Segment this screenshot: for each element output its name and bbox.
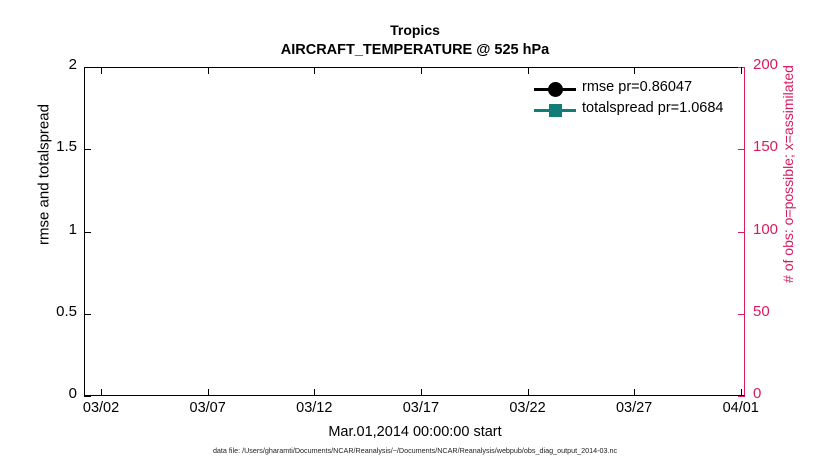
chart-page: Tropics AIRCRAFT_TEMPERATURE @ 525 hPa 0…: [0, 0, 830, 470]
legend-item-totalspread[interactable]: totalspread pr=1.0684: [534, 99, 744, 120]
legend-label-totalspread: totalspread pr=1.0684: [582, 100, 723, 116]
x-tick-label: 03/07: [173, 400, 243, 416]
x-tick-top: [314, 67, 315, 74]
chart-title-block: Tropics AIRCRAFT_TEMPERATURE @ 525 hPa: [0, 22, 830, 58]
data-file-note: data file: /Users/gharamti/Documents/NCA…: [0, 446, 830, 455]
x-tick: [314, 389, 315, 396]
x-tick: [741, 389, 742, 396]
legend-marker-square-icon: [549, 104, 562, 117]
legend-label-rmse: rmse pr=0.86047: [582, 79, 692, 95]
y-tick-left: [84, 232, 91, 233]
legend-item-rmse[interactable]: rmse pr=0.86047: [534, 78, 744, 99]
chart-legend: rmse pr=0.86047 totalspread pr=1.0684: [534, 78, 744, 120]
x-tick-top: [634, 67, 635, 74]
x-tick-label: 03/22: [493, 400, 563, 416]
y-tick-left: [84, 396, 91, 397]
y-axis-label-right: # of obs: o=possible; x=assimilated: [780, 9, 796, 339]
y-tick-left: [84, 314, 91, 315]
x-tick-label: 03/02: [66, 400, 136, 416]
x-tick: [208, 389, 209, 396]
x-tick-label: 03/17: [386, 400, 456, 416]
x-axis-label: Mar.01,2014 00:00:00 start: [0, 424, 830, 440]
page-title: Tropics: [0, 22, 830, 38]
y-tick-right: [738, 149, 745, 150]
x-tick-label: 04/01: [706, 400, 776, 416]
x-tick-label: 03/27: [599, 400, 669, 416]
y-tick-right: [738, 396, 745, 397]
y-tick-right: [738, 314, 745, 315]
x-tick-top: [741, 67, 742, 74]
legend-marker-circle-icon: [548, 82, 563, 97]
x-tick: [634, 389, 635, 396]
x-tick-top: [208, 67, 209, 74]
x-tick-top: [421, 67, 422, 74]
x-tick: [421, 389, 422, 396]
x-tick-top: [528, 67, 529, 74]
y-tick-left: [84, 149, 91, 150]
x-tick-top: [101, 67, 102, 74]
y-tick-right: [738, 232, 745, 233]
x-tick: [101, 389, 102, 396]
y-axis-label-left: rmse and totalspread: [36, 10, 53, 340]
chart-subtitle: AIRCRAFT_TEMPERATURE @ 525 hPa: [0, 42, 830, 58]
x-tick-label: 03/12: [279, 400, 349, 416]
x-tick: [528, 389, 529, 396]
y-tick-left: [84, 67, 91, 68]
